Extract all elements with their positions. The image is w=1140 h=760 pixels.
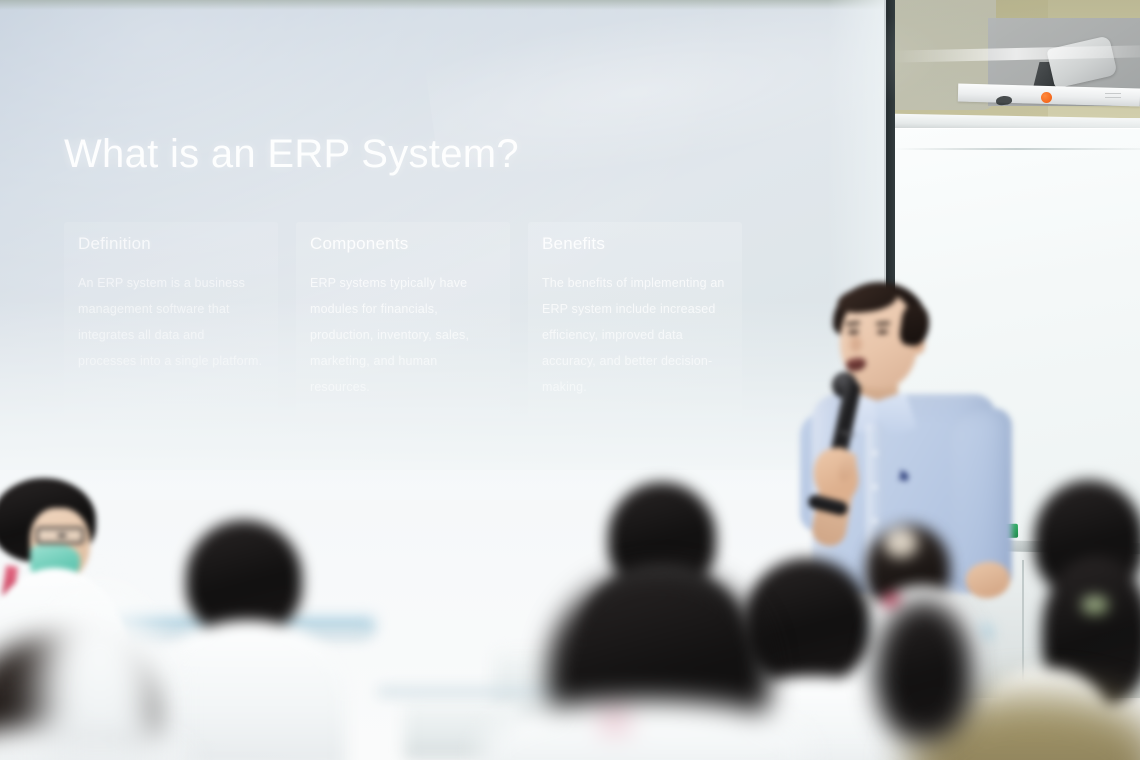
student-shoulders	[150, 620, 346, 760]
eyeglasses-icon	[36, 527, 84, 544]
hair-bun	[884, 528, 918, 558]
uniform-logo	[600, 712, 630, 732]
audience	[0, 0, 1140, 760]
uniform-badge	[884, 594, 900, 608]
hair-clip-icon	[1082, 596, 1108, 614]
student-head	[876, 600, 972, 740]
student-head	[186, 520, 302, 636]
student-shoulders	[40, 596, 160, 760]
classroom-presentation-photo: What is an ERP System? Definition An ERP…	[0, 0, 1140, 760]
